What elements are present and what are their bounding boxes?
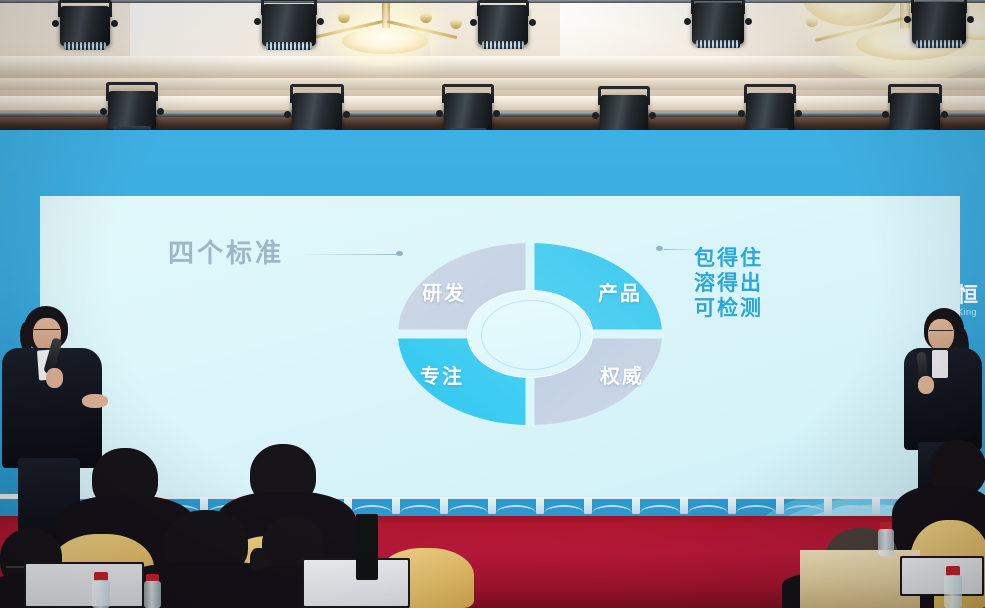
audience-laptop xyxy=(900,556,984,596)
podium-equipment xyxy=(356,514,378,580)
slide-left-label: 四个标准 xyxy=(168,241,284,267)
stage-spotlight xyxy=(474,0,532,56)
water-bottle xyxy=(878,522,894,556)
donut-label-product: 产品 xyxy=(598,277,642,306)
water-bottle xyxy=(944,566,962,608)
bullet-item-1: 包得住 xyxy=(694,246,763,271)
conference-photo: 专业为基 康恒 King xyxy=(0,0,985,608)
presenter-left-glasses xyxy=(34,329,60,330)
bullet-item-2: 溶得出 xyxy=(694,271,763,296)
donut-label-research: 研发 xyxy=(422,277,466,306)
presenter-right-glasses xyxy=(929,330,953,331)
donut-center-ring xyxy=(481,300,581,369)
stage-spotlight xyxy=(56,0,114,58)
leader-line-right xyxy=(664,249,698,250)
stage-spotlight xyxy=(688,0,748,56)
donut-diagram: 研发 产品 专注 权威 xyxy=(398,243,662,425)
presenter-right-shirt xyxy=(932,350,948,378)
stage-spotlight xyxy=(908,0,970,56)
slide-bullet-list: 包得住 溶得出 可检测 xyxy=(694,246,763,321)
presenter-right-hand xyxy=(918,376,934,394)
audience-laptop xyxy=(24,562,144,608)
donut-label-authority: 权威 xyxy=(600,360,644,389)
presenter-right-face xyxy=(928,319,954,351)
presenter-left-hand-mic xyxy=(46,368,63,388)
water-bottle xyxy=(144,574,161,608)
stage-spotlight xyxy=(258,0,320,58)
bullet-item-3: 可检测 xyxy=(694,296,763,321)
presenter-left-hand-gesture xyxy=(82,394,108,408)
water-bottle xyxy=(92,572,110,608)
leader-line-left xyxy=(300,254,398,255)
donut-label-focus: 专注 xyxy=(420,360,464,389)
